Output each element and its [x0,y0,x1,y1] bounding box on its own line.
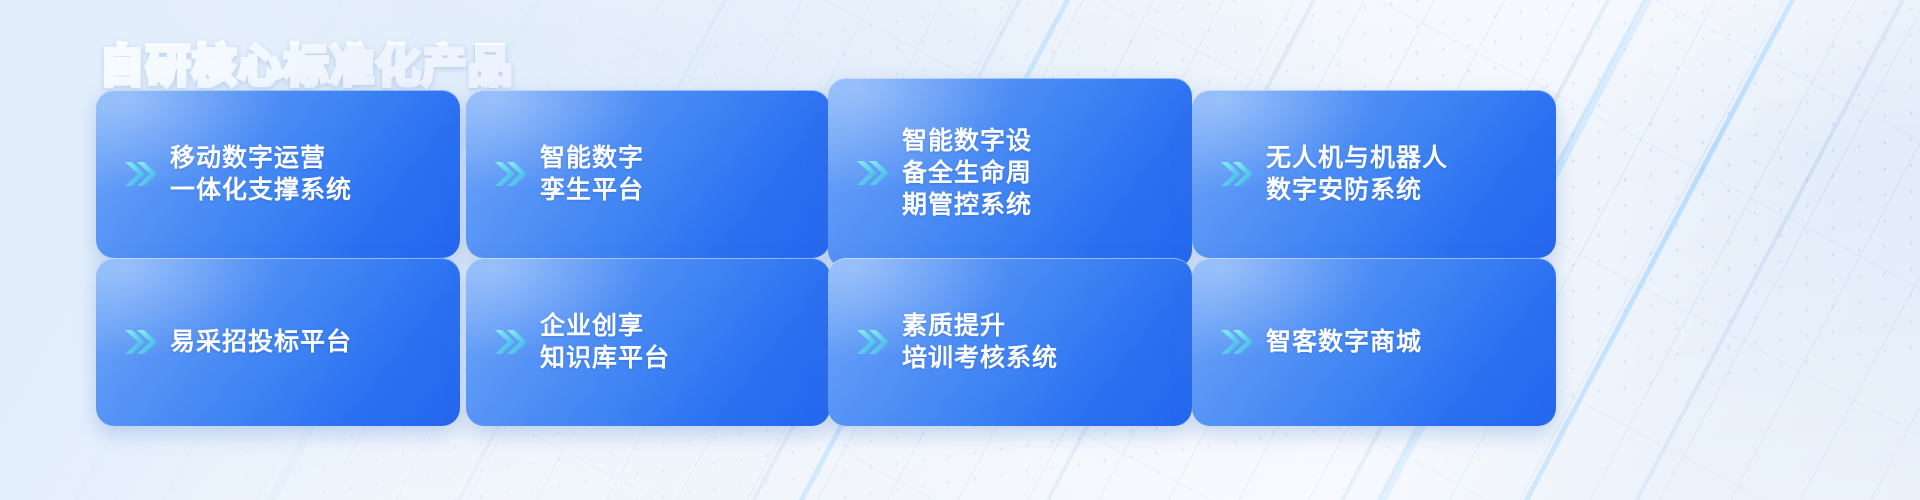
double-chevron-right-icon [492,157,526,191]
double-chevron-right-icon [854,325,888,359]
double-chevron-right-icon [1218,157,1252,191]
product-showcase-banner: 自研核心标准化产品 移动数字运营 一体化支撑系统 智能数字 孪生平台 [0,0,1920,500]
product-card-label: 智客数字商城 [1266,326,1422,358]
product-card-label: 企业创享 知识库平台 [540,310,670,374]
product-card-enterprise-knowledge-base[interactable]: 企业创享 知识库平台 [466,258,830,426]
product-card-label: 素质提升 培训考核系统 [902,310,1058,374]
product-card-mobile-digital-operations[interactable]: 移动数字运营 一体化支撑系统 [96,90,460,258]
product-card-zhike-digital-mall[interactable]: 智客数字商城 [1192,258,1556,426]
product-card-ecaizhaotoubiao-platform[interactable]: 易采招投标平台 [96,258,460,426]
double-chevron-right-icon [492,325,526,359]
product-card-uav-robot-security[interactable]: 无人机与机器人 数字安防系统 [1192,90,1556,258]
product-card-label: 移动数字运营 一体化支撑系统 [170,142,352,206]
product-card-intelligent-digital-twin[interactable]: 智能数字 孪生平台 [466,90,830,258]
product-card-grid: 移动数字运营 一体化支撑系统 智能数字 孪生平台 智能数字设 备全生命周 期管控… [0,0,1920,500]
product-card-label: 智能数字设 备全生命周 期管控系统 [902,125,1032,221]
double-chevron-right-icon [122,157,156,191]
product-card-label: 无人机与机器人 数字安防系统 [1266,142,1448,206]
product-card-label: 易采招投标平台 [170,326,352,358]
double-chevron-right-icon [122,325,156,359]
product-card-label: 智能数字 孪生平台 [540,142,644,206]
product-card-equipment-lifecycle-control[interactable]: 智能数字设 备全生命周 期管控系统 [828,78,1192,268]
product-card-training-assessment-system[interactable]: 素质提升 培训考核系统 [828,258,1192,426]
double-chevron-right-icon [854,156,888,190]
double-chevron-right-icon [1218,325,1252,359]
